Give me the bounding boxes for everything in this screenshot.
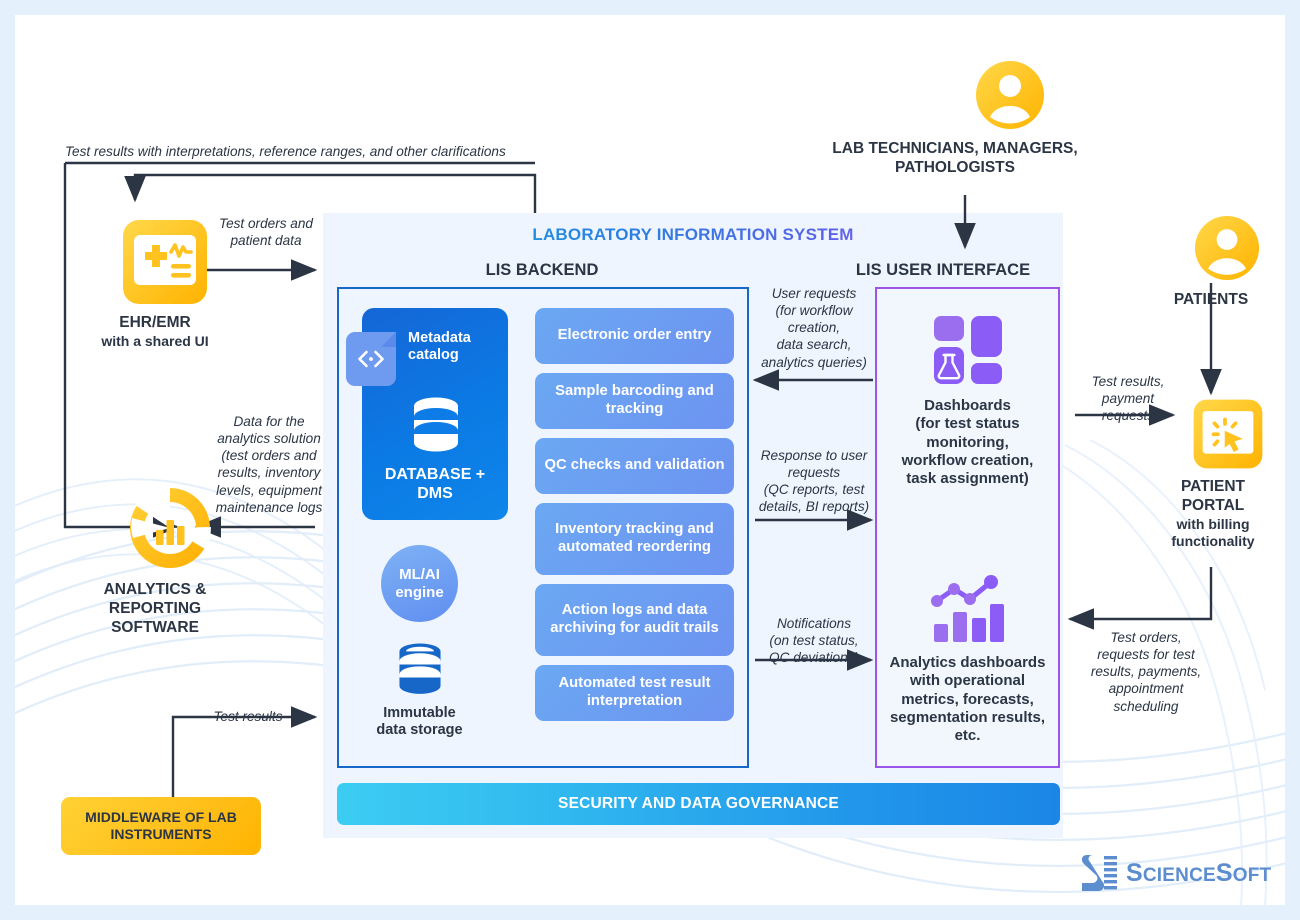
database-cylinder-icon [392,641,448,701]
lab-staff-line2: PATHOLOGISTS [895,159,1015,176]
flow-user-requests: User requests(for workflowcreation,data … [755,285,873,371]
feature-inventory-tracking[interactable]: Inventory tracking and automated reorder… [535,503,734,575]
ml-engine-line2: engine [395,584,443,601]
user-avatar-icon [975,60,1045,130]
medical-record-icon [121,218,209,306]
lis-user-interface-box: Dashboards(for test status monitoring,wo… [875,287,1060,768]
code-brackets-glyph [356,350,386,368]
lis-user-interface-label: LIS USER INTERFACE [823,261,1063,280]
database-dms-card[interactable]: Metadata catalog DATABASE + DMS [362,308,508,520]
patient-portal-title: PATIENT PORTAL [1153,478,1273,516]
donut-bar-chart-icon [125,483,215,573]
flow-test-results: Test results [193,708,303,725]
lab-staff-label: LAB TECHNICIANS, MANAGERS, PATHOLOGISTS [810,140,1100,178]
ml-engine-line1: ML/AI [399,566,440,583]
database-dms-name: DATABASE + DMS [362,465,508,503]
cursor-click-screen-icon [1192,398,1264,470]
analytics-line1: ANALYTICS & [104,581,207,598]
ui-item-analytics-dashboards[interactable]: Analytics dashboards with operational me… [877,574,1058,745]
sciencesoft-logo: SCIENCESOFT [1080,853,1271,893]
metadata-catalog-line1: Metadata [408,330,471,346]
feature-electronic-order-entry[interactable]: Electronic order entry [535,308,734,364]
immutable-data-storage[interactable]: Immutable data storage [362,641,477,740]
middleware-line2: INSTRUMENTS [110,826,211,842]
flow-notifications: Notifications(on test status,QC deviatio… [755,615,873,666]
patient-portal-subtitle: with billing functionality [1148,516,1278,550]
ui-item-dashboards[interactable]: Dashboards(for test status monitoring,wo… [877,313,1058,488]
immutable-storage-line2: data storage [376,722,462,738]
flow-test-orders-patient-data: Test orders andpatient data [207,215,325,249]
arrow-results-to-ehr [135,175,535,213]
diagram-canvas: LABORATORY INFORMATION SYSTEM LIS BACKEN… [15,15,1285,905]
flow-analytics-data: Data for theanalytics solution(test orde… [205,413,333,516]
metadata-catalog-label: Metadata catalog [408,330,500,365]
immutable-storage-line1: Immutable [383,705,456,721]
patient-portal-sub1: with billing [1176,516,1249,532]
lis-title: LABORATORY INFORMATION SYSTEM [323,225,1063,245]
metadata-catalog-line2: catalog [408,347,459,363]
feature-sample-barcoding[interactable]: Sample barcoding and tracking [535,373,734,429]
logo-oft: OFT [1233,865,1272,886]
middleware-line1: MIDDLEWARE OF LAB [85,809,237,825]
patient-portal-line1: PATIENT [1181,478,1245,495]
flow-response-to-user: Response to userrequests(QC reports, tes… [752,447,876,516]
lis-backend-label: LIS BACKEND [337,261,747,280]
logo-cience: CIENCE [1143,865,1216,886]
analytics-title: ANALYTICS & REPORTING SOFTWARE [80,581,230,638]
database-cylinder-icon [406,396,466,458]
analytics-chart-icon [928,574,1008,646]
feature-automated-interpretation[interactable]: Automated test result interpretation [535,665,734,721]
security-and-data-governance-bar: SECURITY AND DATA GOVERNANCE [337,783,1060,825]
patients-label: PATIENTS [1146,291,1276,310]
sciencesoft-wordmark: SCIENCESOFT [1126,859,1271,888]
user-avatar-icon [1194,215,1260,281]
analytics-line3: SOFTWARE [111,619,199,636]
lab-staff-node[interactable]: LAB TECHNICIANS, MANAGERS, PATHOLOGISTS [920,60,1100,178]
logo-s2: S [1216,859,1233,887]
ehr-title: EHR/EMR [110,314,200,333]
immutable-storage-label: Immutable data storage [362,705,477,740]
sciencesoft-mark-icon [1080,853,1118,893]
lis-panel: LABORATORY INFORMATION SYSTEM LIS BACKEN… [323,213,1063,838]
flow-test-results-interpretations: Test results with interpretations, refer… [65,143,585,160]
feature-qc-checks[interactable]: QC checks and validation [535,438,734,494]
code-brackets-icon [346,332,396,386]
patients-node[interactable]: PATIENTS [1178,215,1276,310]
arrow-middleware-to-lis [173,717,315,797]
logo-s: S [1126,859,1143,887]
lis-backend-box: Metadata catalog DATABASE + DMS [337,287,749,768]
patient-portal-line2: PORTAL [1182,497,1245,514]
flow-test-results-payment: Test results,paymentrequests [1078,373,1178,424]
flow-test-orders-requests: Test orders,requests for testresults, pa… [1073,629,1219,715]
dashboards-text: Dashboards(for test status monitoring,wo… [877,397,1058,488]
database-name-line2: DMS [417,485,453,502]
analytics-dashboards-text: Analytics dashboards with operational me… [877,654,1058,745]
dashboard-tiles-flask-icon [931,313,1005,387]
patient-portal-node[interactable]: PATIENT PORTAL with billing functionalit… [1177,398,1278,550]
middleware-of-lab-instruments[interactable]: MIDDLEWARE OF LAB INSTRUMENTS [61,797,261,855]
feature-action-logs[interactable]: Action logs and data archiving for audit… [535,584,734,656]
analytics-line2: REPORTING [109,600,201,617]
ml-ai-engine[interactable]: ML/AI engine [381,545,458,622]
database-name-line1: DATABASE + [385,466,485,483]
arrow-portal-to-lis [1070,567,1211,619]
ehr-subtitle: with a shared UI [90,333,220,350]
lab-staff-line1: LAB TECHNICIANS, MANAGERS, [832,140,1077,157]
ehr-emr-node[interactable]: EHR/EMR with a shared UI [110,218,220,350]
patient-portal-sub2: functionality [1171,533,1254,549]
